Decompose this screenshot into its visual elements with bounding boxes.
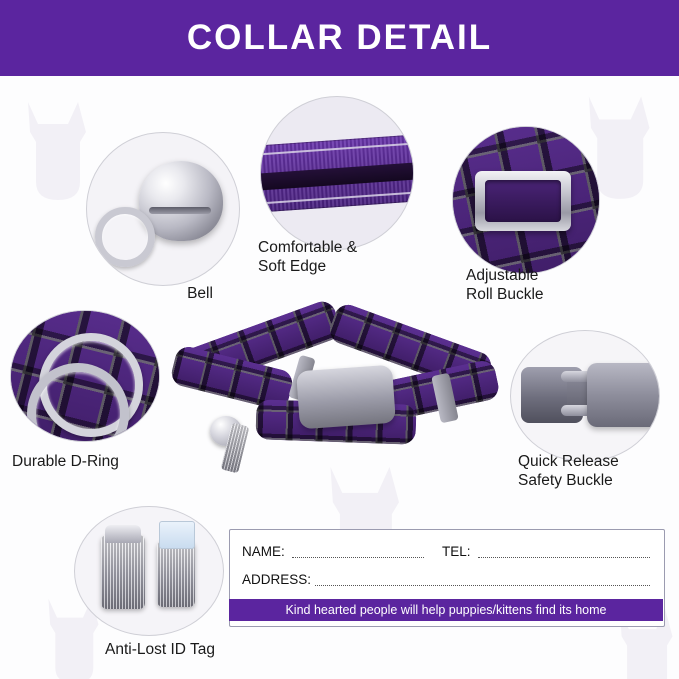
collar-buckle-icon [296,365,396,430]
quick-release-photo [510,330,660,462]
id-card-banner: Kind hearted people will help puppies/ki… [229,599,663,621]
address-label: ADDRESS: [242,572,311,587]
header-banner: COLLAR DETAIL [0,0,679,76]
caption-roll-buckle: Adjustable Roll Buckle [466,266,646,304]
roll-buckle-icon [475,171,571,231]
soft-edge-photo [260,96,414,250]
tel-label: TEL: [442,544,471,559]
bell-ring-icon [95,207,155,267]
address-field[interactable] [315,585,650,586]
capsule-icon [101,535,145,609]
dog-silhouette-icon [8,92,98,202]
product-infographic: COLLAR DETAIL Bell Comfortable & Soft Ed… [0,0,679,679]
bell-slot [149,207,211,214]
name-field[interactable] [292,557,424,558]
capsule-icon [157,541,195,607]
name-label: NAME: [242,544,285,559]
caption-quick-release: Quick Release Safety Buckle [518,452,679,490]
caption-soft-edge: Comfortable & Soft Edge [258,238,428,276]
caption-id-tag: Anti-Lost ID Tag [60,640,260,659]
webbing-dark-stripe [260,161,414,191]
id-tag-photo [74,506,224,636]
main-collar-photo [178,306,496,456]
bell-photo [86,132,240,286]
caption-bell: Bell [140,284,260,303]
roll-buckle-photo [452,126,600,274]
webbing-strip [260,133,414,212]
page-title: COLLAR DETAIL [187,18,492,58]
capsule-paper-icon [159,521,195,549]
tel-field[interactable] [478,557,650,558]
d-ring-photo [10,310,160,442]
buckle-female-icon [587,363,660,427]
capsule-cap-icon [105,525,141,543]
